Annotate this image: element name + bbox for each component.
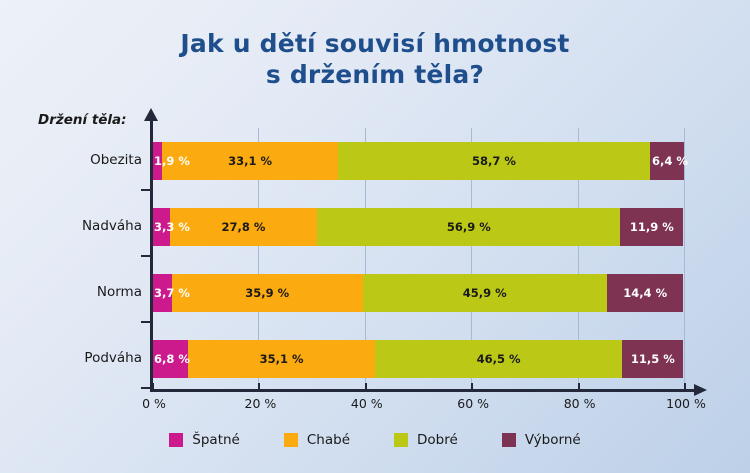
legend-item[interactable]: Špatné xyxy=(169,432,240,448)
bar-row[interactable]: 1,9 %33,1 %58,7 %6,4 % xyxy=(152,142,684,180)
legend-item-label: Špatné xyxy=(192,432,240,448)
y-axis-category-label: Norma xyxy=(12,284,142,300)
bar-segment-value-label: 35,9 % xyxy=(245,286,289,300)
bar-segment[interactable]: 46,5 % xyxy=(375,340,622,378)
x-axis-tick-label: 100 % xyxy=(666,396,706,411)
y-axis-category-labels: ObezitaNadváhaNormaPodváha xyxy=(8,0,142,473)
bar-segment-value-label: 6,8 % xyxy=(154,352,190,366)
bar-segment[interactable]: 6,4 % xyxy=(650,142,684,180)
legend-swatch-icon xyxy=(284,433,298,447)
bar-segment-value-label: 45,9 % xyxy=(463,286,507,300)
bar-segment-value-label: 35,1 % xyxy=(260,352,304,366)
y-axis-tick xyxy=(141,255,153,257)
y-axis-category-label: Nadváha xyxy=(12,218,142,234)
bar-segment[interactable]: 27,8 % xyxy=(170,208,318,246)
bar-segment-value-label: 14,4 % xyxy=(623,286,667,300)
bar-segment-value-label: 27,8 % xyxy=(222,220,266,234)
legend-item[interactable]: Dobré xyxy=(394,432,458,448)
bar-row[interactable]: 3,3 %27,8 %56,9 %11,9 % xyxy=(152,208,684,246)
plot-area: 1,9 %33,1 %58,7 %6,4 %3,3 %27,8 %56,9 %1… xyxy=(152,128,684,390)
x-axis-tick xyxy=(684,383,686,392)
bar-row[interactable]: 3,7 %35,9 %45,9 %14,4 % xyxy=(152,274,684,312)
bar-segment-value-label: 56,9 % xyxy=(447,220,491,234)
y-axis-arrow-icon xyxy=(144,108,158,121)
x-axis-tick xyxy=(578,383,580,392)
y-axis-category-label: Podváha xyxy=(12,350,142,366)
x-axis-tick xyxy=(471,383,473,392)
legend-item[interactable]: Výborné xyxy=(502,432,581,448)
x-axis-arrow-icon xyxy=(694,384,707,396)
bar-segment-value-label: 33,1 % xyxy=(228,154,272,168)
chart-container: Jak u dětí souvisí hmotnost s držením tě… xyxy=(0,0,750,473)
y-axis-line xyxy=(150,118,153,390)
legend-item[interactable]: Chabé xyxy=(284,432,350,448)
legend-item-label: Výborné xyxy=(525,432,581,448)
bar-segment[interactable]: 45,9 % xyxy=(363,274,607,312)
bar-segment[interactable]: 14,4 % xyxy=(607,274,684,312)
y-axis-tick xyxy=(141,189,153,191)
bar-segment[interactable]: 3,7 % xyxy=(152,274,172,312)
legend-item-label: Chabé xyxy=(307,432,350,448)
bar-segment[interactable]: 35,9 % xyxy=(172,274,363,312)
legend-swatch-icon xyxy=(169,433,183,447)
legend-item-label: Dobré xyxy=(417,432,458,448)
bar-segment[interactable]: 35,1 % xyxy=(188,340,375,378)
bar-segment-value-label: 6,4 % xyxy=(652,154,688,168)
x-axis-tick-label: 20 % xyxy=(245,396,277,411)
bar-segment[interactable]: 56,9 % xyxy=(317,208,620,246)
x-axis-tick xyxy=(258,383,260,392)
bar-segment[interactable]: 1,9 % xyxy=(152,142,162,180)
bar-segment[interactable]: 11,9 % xyxy=(620,208,683,246)
y-axis-tick xyxy=(141,321,153,323)
bar-segment[interactable]: 6,8 % xyxy=(152,340,188,378)
bar-segment-value-label: 46,5 % xyxy=(477,352,521,366)
bar-segment[interactable]: 33,1 % xyxy=(162,142,338,180)
bar-segment-value-label: 58,7 % xyxy=(472,154,516,168)
x-axis-tick xyxy=(365,383,367,392)
x-axis-line xyxy=(150,389,696,392)
bar-segment-value-label: 11,5 % xyxy=(631,352,675,366)
legend-swatch-icon xyxy=(502,433,516,447)
x-axis-tick-label: 60 % xyxy=(457,396,489,411)
bar-segment[interactable]: 58,7 % xyxy=(338,142,650,180)
x-axis-tick-label: 0 % xyxy=(142,396,166,411)
x-axis-tick-label: 80 % xyxy=(564,396,596,411)
bar-segment[interactable]: 3,3 % xyxy=(152,208,170,246)
y-axis-category-label: Obezita xyxy=(12,152,142,168)
y-axis-tick xyxy=(141,387,153,389)
bar-row[interactable]: 6,8 %35,1 %46,5 %11,5 % xyxy=(152,340,684,378)
bar-segment[interactable]: 11,5 % xyxy=(622,340,683,378)
bar-segment-value-label: 11,9 % xyxy=(630,220,674,234)
gridline xyxy=(684,128,685,390)
x-axis-tick-label: 40 % xyxy=(351,396,383,411)
legend-swatch-icon xyxy=(394,433,408,447)
chart-legend: ŠpatnéChabéDobréVýborné xyxy=(0,432,750,448)
